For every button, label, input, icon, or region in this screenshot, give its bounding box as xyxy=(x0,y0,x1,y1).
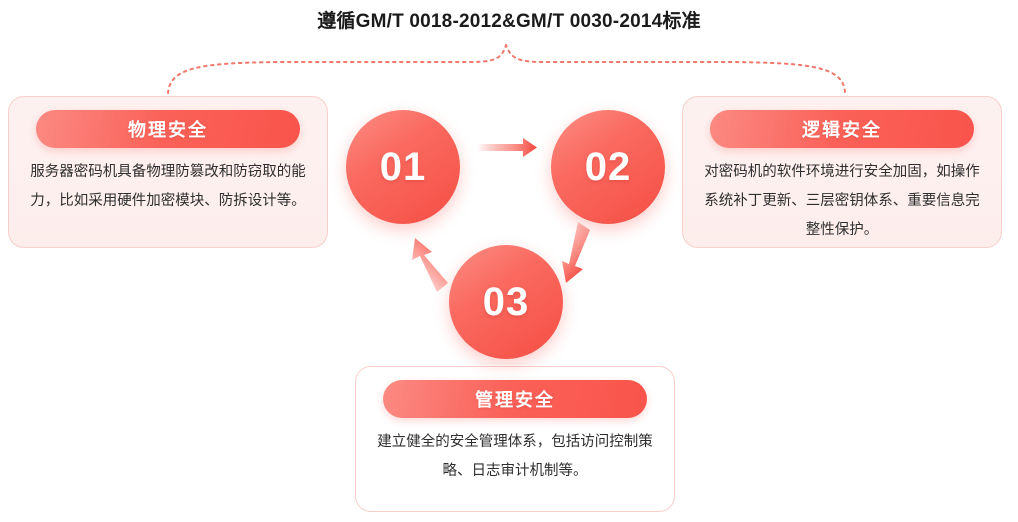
card-heading-management: 管理安全 xyxy=(475,386,555,412)
card-body-logical: 对密码机的软件环境进行安全加固，如操作系统补丁更新、三层密钥体系、重要信息完整性… xyxy=(699,158,985,245)
card-heading-pill-management: 管理安全 xyxy=(383,380,647,418)
step-number-03: 03 xyxy=(483,280,530,325)
step-number-01: 01 xyxy=(380,145,427,190)
card-body-management: 建立健全的安全管理体系，包括访问控制策略、日志审计机制等。 xyxy=(372,428,658,486)
card-physical-security[interactable]: 物理安全 服务器密码机具备物理防篡改和防窃取的能力，比如采用硬件加密模块、防拆设… xyxy=(8,96,328,248)
card-management-security[interactable]: 管理安全 建立健全的安全管理体系，包括访问控制策略、日志审计机制等。 xyxy=(355,366,675,512)
arrow-03-to-01 xyxy=(412,238,448,292)
card-logical-security[interactable]: 逻辑安全 对密码机的软件环境进行安全加固，如操作系统补丁更新、三层密钥体系、重要… xyxy=(682,96,1002,248)
card-heading-pill-physical: 物理安全 xyxy=(36,110,300,148)
page-title: 遵循GM/T 0018-2012&GM/T 0030-2014标准 xyxy=(0,6,1018,33)
card-body-physical: 服务器密码机具备物理防篡改和防窃取的能力，比如采用硬件加密模块、防拆设计等。 xyxy=(25,158,311,216)
step-circle-02[interactable]: 02 xyxy=(551,110,665,224)
card-heading-logical: 逻辑安全 xyxy=(802,116,882,142)
card-heading-physical: 物理安全 xyxy=(128,116,208,142)
step-circle-01[interactable]: 01 xyxy=(346,110,460,224)
step-circle-03[interactable]: 03 xyxy=(449,245,563,359)
step-number-02: 02 xyxy=(585,145,632,190)
arrow-02-to-03 xyxy=(562,222,590,283)
card-heading-pill-logical: 逻辑安全 xyxy=(710,110,974,148)
arrow-01-to-02 xyxy=(479,138,537,157)
